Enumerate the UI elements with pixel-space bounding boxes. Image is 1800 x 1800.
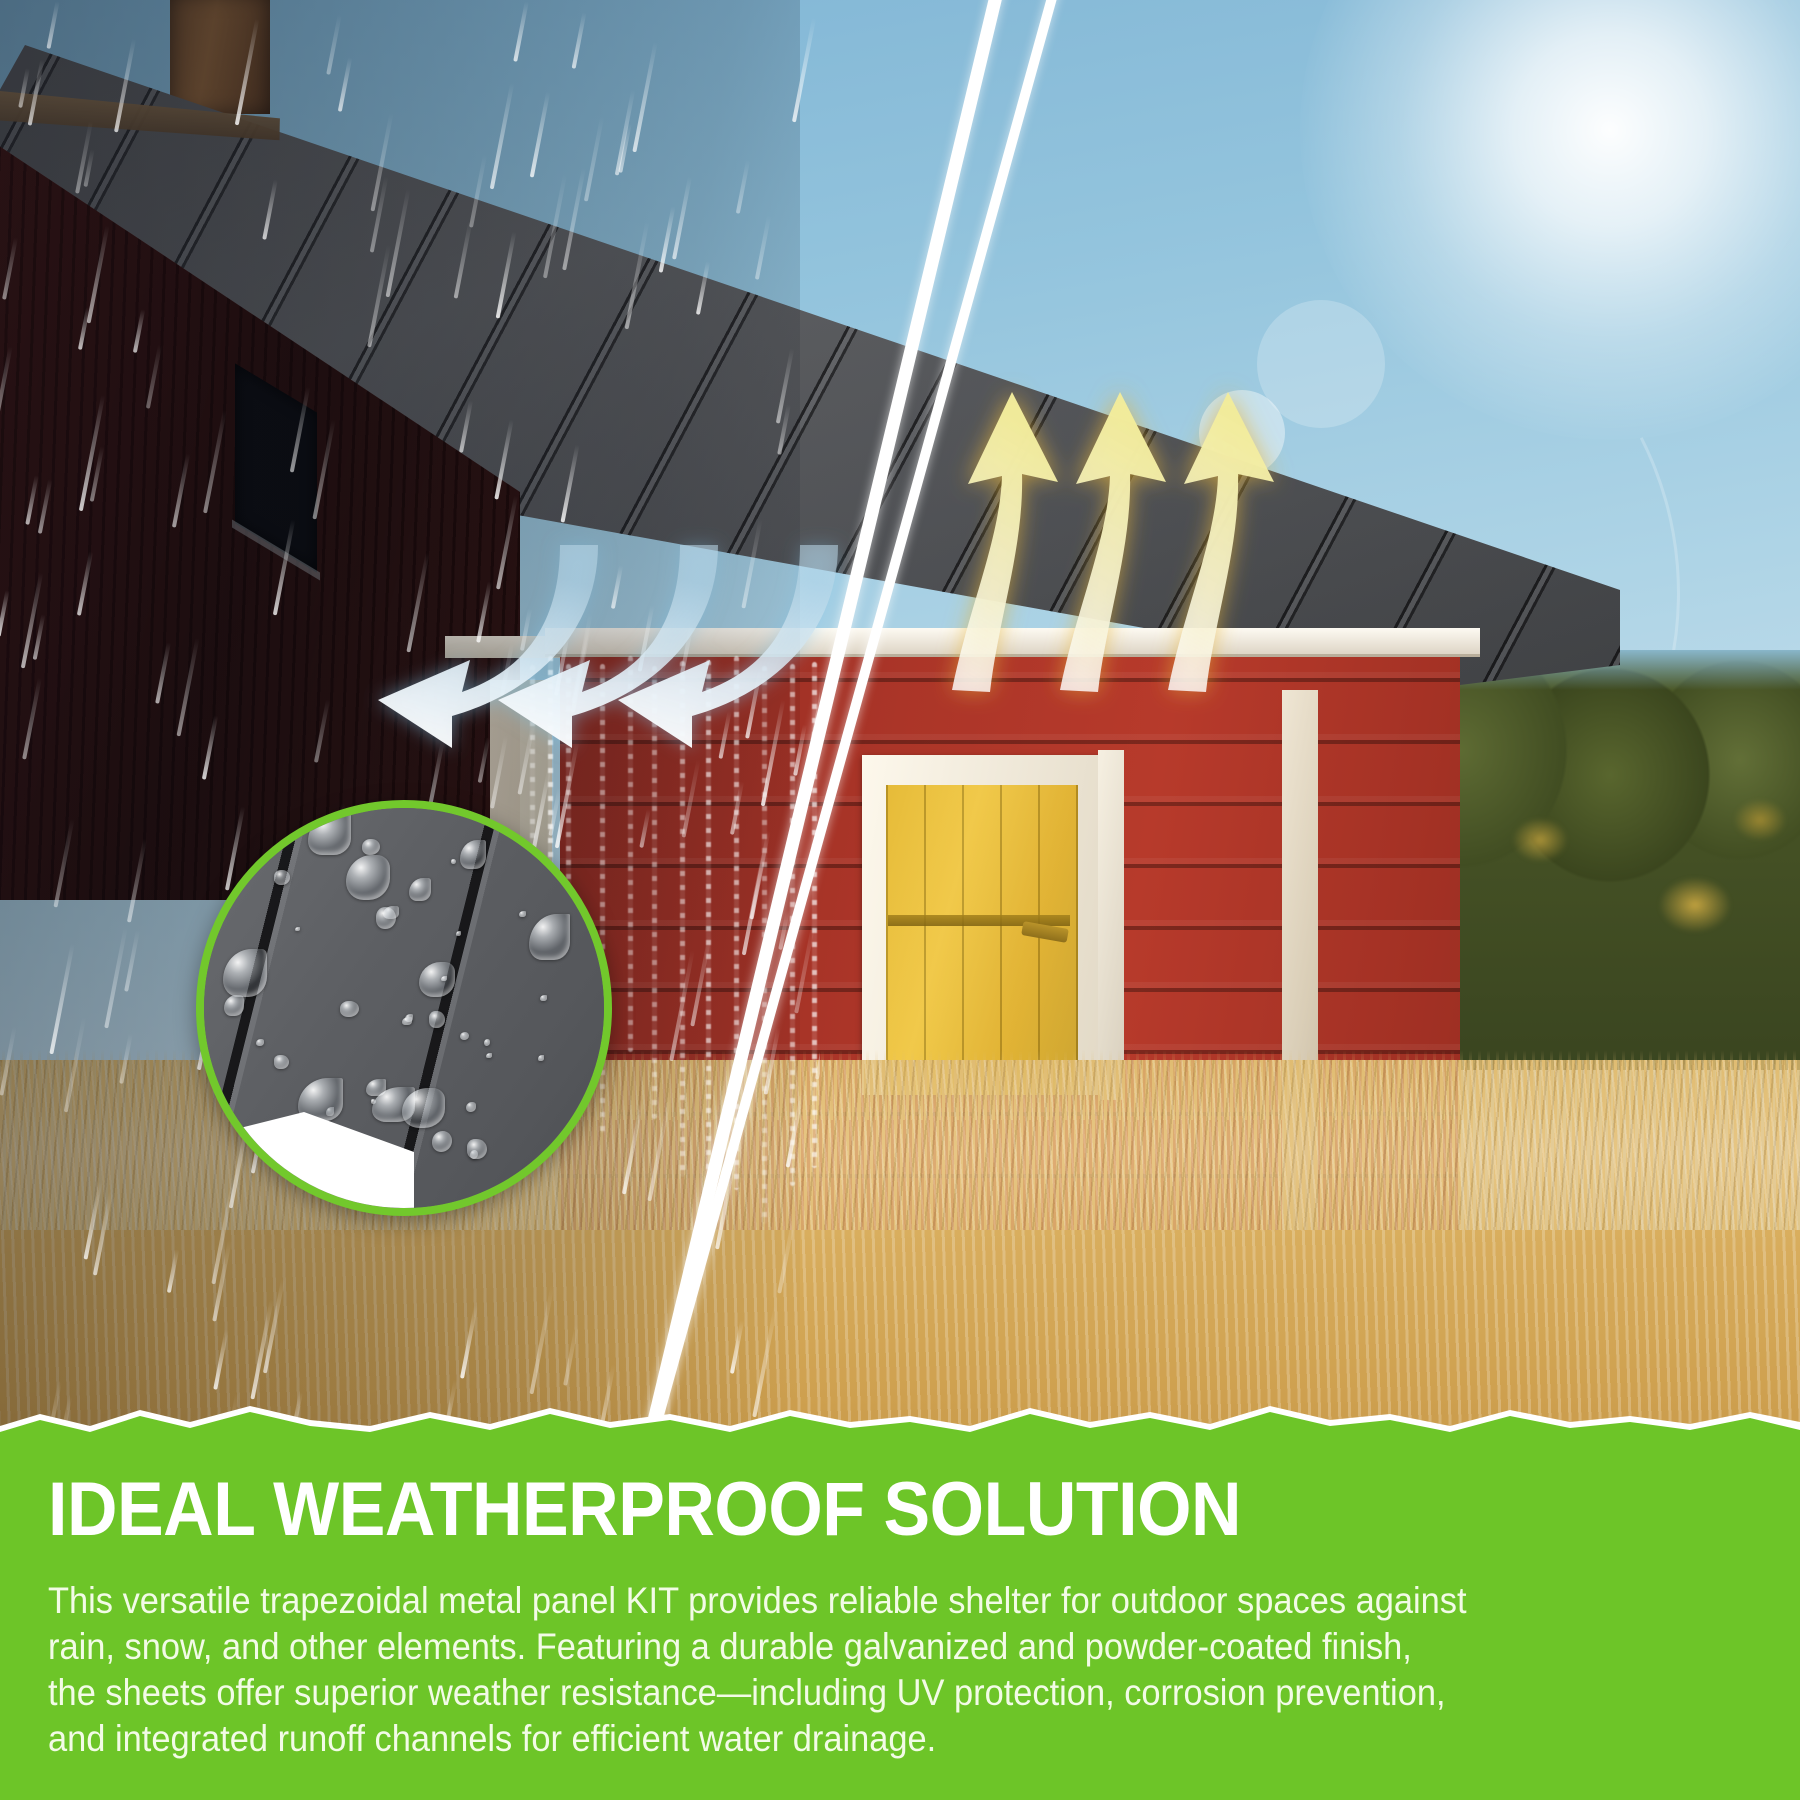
water-stream xyxy=(652,666,657,1119)
water-bead xyxy=(402,1017,412,1025)
water-bead xyxy=(429,1011,445,1028)
rain-streak xyxy=(563,1324,579,1386)
description-line: the sheets offer superior weather resist… xyxy=(48,1670,1657,1716)
water-bead xyxy=(409,878,431,901)
rain-streak xyxy=(730,1320,744,1374)
water-bead xyxy=(484,1039,490,1046)
water-stream xyxy=(628,656,633,1052)
water-bead xyxy=(223,949,267,997)
description-line: This versatile trapezoidal metal panel K… xyxy=(48,1578,1657,1624)
water-bead xyxy=(460,1032,469,1040)
water-bead xyxy=(441,976,447,981)
water-bead xyxy=(308,813,351,855)
water-bead xyxy=(486,1053,492,1058)
water-bead xyxy=(419,962,455,997)
water-bead xyxy=(538,1055,544,1061)
water-bead xyxy=(467,1139,487,1159)
water-bead xyxy=(256,1039,264,1046)
water-bead xyxy=(529,914,570,960)
water-bead xyxy=(295,927,300,931)
water-stream xyxy=(706,660,711,1172)
water-bead xyxy=(362,839,380,855)
water-bead xyxy=(456,931,461,936)
water-bead xyxy=(466,1102,476,1112)
water-bead xyxy=(451,859,456,864)
water-bead xyxy=(274,1055,289,1069)
water-beading-detail-inset xyxy=(196,800,612,1216)
rain-streak xyxy=(529,1285,554,1395)
rain-streak xyxy=(460,1305,478,1378)
description-line: rain, snow, and other elements. Featurin… xyxy=(48,1624,1657,1670)
water-bead xyxy=(540,995,547,1001)
water-bead xyxy=(346,855,390,900)
water-bead xyxy=(274,870,290,885)
page-title: IDEAL WEATHERPROOF SOLUTION xyxy=(48,1472,1612,1548)
water-bead xyxy=(340,1001,359,1017)
description-line: and integrated runoff channels for effic… xyxy=(48,1716,1657,1762)
water-bead xyxy=(432,1131,452,1152)
water-bead xyxy=(224,995,244,1016)
water-stream xyxy=(680,661,685,1177)
product-description: This versatile trapezoidal metal panel K… xyxy=(48,1578,1657,1762)
rain-streak xyxy=(213,1329,229,1390)
torn-paper-edge xyxy=(0,1396,1800,1446)
water-bead xyxy=(460,840,486,869)
product-feature-poster: IDEAL WEATHERPROOF SOLUTION This versati… xyxy=(0,0,1800,1800)
water-bead xyxy=(376,907,396,929)
water-bead xyxy=(519,911,526,917)
